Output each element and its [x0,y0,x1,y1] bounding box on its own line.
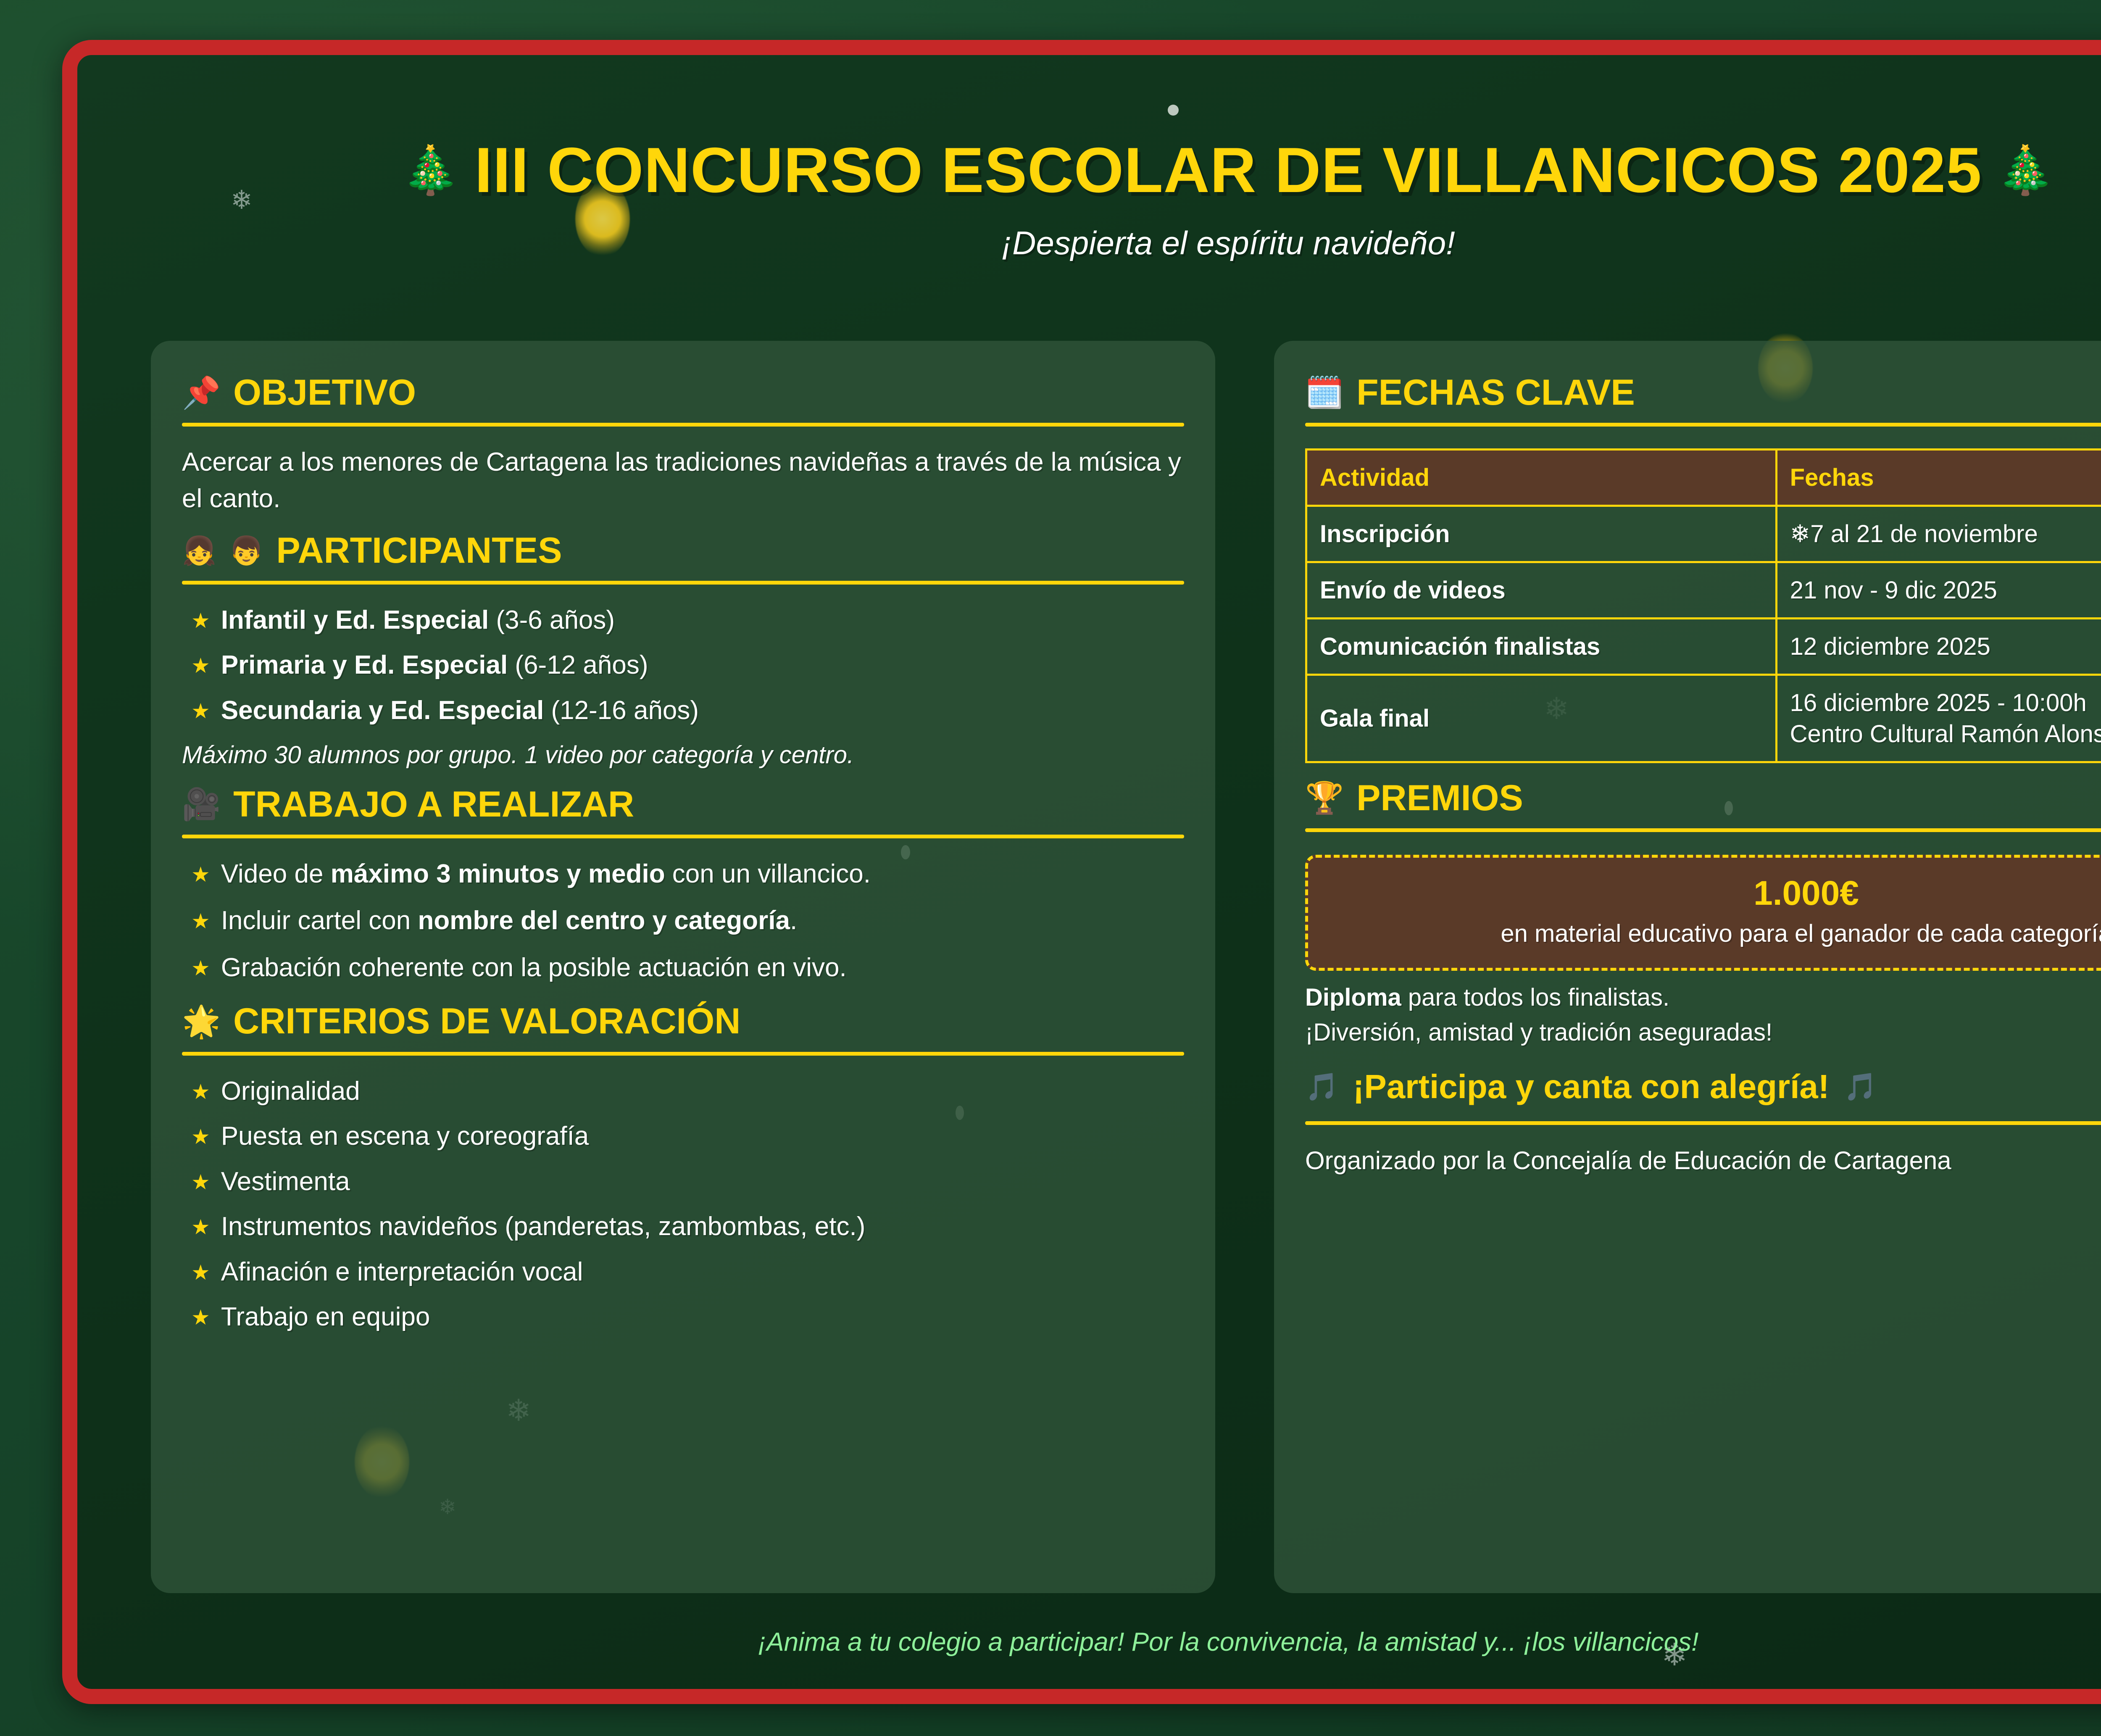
objetivo-text: Acercar a los menores de Cartagena las t… [182,444,1184,517]
star-bullet-icon: ★ [191,698,210,724]
criterio-label: Afinación e interpretación vocal [221,1256,583,1288]
column-header-fechas: Fechas [1776,450,2101,506]
list-item: ★Infantil y Ed. Especial (3-6 años) [182,604,1184,637]
column-header-actividad: Actividad [1306,450,1777,506]
star-bullet-icon: ★ [191,608,210,634]
section-divider [1305,423,2101,427]
trabajo-pre: Grabación coherente con la posible actua… [221,953,847,982]
cell-date: 16 diciembre 2025 - 10:00h Centro Cultur… [1776,675,2101,762]
cell-date: 21 nov - 9 dic 2025 [1776,562,2101,619]
list-item: ★Incluir cartel con nombre del centro y … [182,904,1184,937]
diploma-line: Diploma para todos los finalistas. [1305,982,2101,1013]
criterios-list: ★Originalidad ★Puesta en escena y coreog… [182,1075,1184,1333]
list-item: ★Puesta en escena y coreografía [182,1120,1184,1153]
table-row: Inscripción ❄7 al 21 de noviembre [1306,506,2101,562]
diploma-bold: Diploma [1305,984,1401,1011]
poster-footer: ¡Anima a tu colegio a participar! Por la… [77,1627,2101,1657]
star-bullet-icon: ★ [191,1169,210,1196]
section-header-fechas: 🗓️ FECHAS CLAVE [1305,374,2101,412]
section-header-participantes: 👧 👦 PARTICIPANTES [182,532,1184,570]
trabajo-pre: Video de [221,859,331,888]
section-header-premios: 🏆 PREMIOS [1305,779,2101,817]
trabajo-list: ★Video de máximo 3 minutos y medio con u… [182,858,1184,984]
cell-activity: Gala final [1306,675,1777,762]
criterio-label: Trabajo en equipo [221,1301,430,1333]
list-item: ★Afinación e interpretación vocal [182,1256,1184,1288]
section-divider [182,423,1184,427]
participant-age: (12-16 años) [544,696,699,725]
participant-age: (6-12 años) [508,651,648,680]
criterio-label: Originalidad [221,1075,360,1108]
page-title: 🎄III CONCURSO ESCOLAR DE VILLANCICOS 202… [77,138,2101,202]
movie-camera-icon: 🎥 [182,789,221,820]
star-bullet-icon: ★ [191,1304,210,1331]
star-bullet-icon: ★ [191,955,210,982]
cheer-line: 🎵 ¡Participa y canta con alegría! 🎵 [1305,1067,2101,1106]
trabajo-bold: nombre del centro y categoría [418,906,790,935]
organizer-text: Organizado por la Concejalía de Educació… [1305,1144,2101,1177]
prize-description: en material educativo para el ganador de… [1325,919,2101,948]
glowing-star-icon: 🌟 [182,1006,221,1037]
trabajo-bold: máximo 3 minutos y medio [331,859,665,888]
pushpin-icon: 📌 [182,377,221,408]
star-bullet-icon: ★ [191,1259,210,1286]
list-item: ★Instrumentos navideños (panderetas, zam… [182,1210,1184,1243]
cell-date: 12 diciembre 2025 [1776,619,2101,675]
diploma-rest: para todos los finalistas. [1401,984,1669,1011]
music-note-icon: 🎵 [1305,1071,1339,1103]
poster-subtitle: ¡Despierta el espíritu navideño! [77,224,2101,262]
participant-category: Primaria y Ed. Especial [221,651,508,680]
list-item: ★Originalidad [182,1075,1184,1108]
participant-category: Secundaria y Ed. Especial [221,696,544,725]
poster-frame: ❄ ❄ ❄ ❄ ❄ ❄ ❄ 🎄III CONCURSO ESCOLAR DE V… [62,40,2101,1704]
table-row: Envío de videos 21 nov - 9 dic 2025 [1306,562,2101,619]
section-title-trabajo: TRABAJO A REALIZAR [233,785,634,824]
christmas-tree-icon: 🎄 [1996,144,2055,196]
cell-activity: Comunicación finalistas [1306,619,1777,675]
section-title-premios: PREMIOS [1356,779,1523,817]
cheer-text: ¡Participa y canta con alegría! [1353,1067,1830,1106]
criterio-label: Instrumentos navideños (panderetas, zamb… [221,1210,866,1243]
participantes-note: Máximo 30 alumnos por grupo. 1 video por… [182,739,1184,771]
star-bullet-icon: ★ [191,1214,210,1241]
section-title-fechas: FECHAS CLAVE [1356,374,1635,412]
star-bullet-icon: ★ [191,653,210,679]
criterio-label: Vestimenta [221,1165,350,1198]
fun-line: ¡Diversión, amistad y tradición asegurad… [1305,1017,2101,1048]
section-header-trabajo: 🎥 TRABAJO A REALIZAR [182,785,1184,824]
section-header-criterios: 🌟 CRITERIOS DE VALORACIÓN [182,1002,1184,1041]
star-bullet-icon: ★ [191,1124,210,1150]
cell-activity: Inscripción [1306,506,1777,562]
cell-activity: Envío de videos [1306,562,1777,619]
list-item: ★Video de máximo 3 minutos y medio con u… [182,858,1184,890]
section-title-criterios: CRITERIOS DE VALORACIÓN [233,1002,740,1041]
star-bullet-icon: ★ [191,861,210,888]
section-header-objetivo: 📌 OBJETIVO [182,374,1184,412]
table-header-row: Actividad Fechas [1306,450,2101,506]
calendar-icon: 🗓️ [1305,377,1344,408]
poster-header: 🎄III CONCURSO ESCOLAR DE VILLANCICOS 202… [77,55,2101,262]
table-row: Gala final 16 diciembre 2025 - 10:00h Ce… [1306,675,2101,762]
left-panel: 📌 OBJETIVO Acercar a los menores de Cart… [151,341,1215,1593]
key-dates-table: Actividad Fechas Inscripción ❄7 al 21 de… [1305,448,2101,763]
list-item: ★Trabajo en equipo [182,1301,1184,1333]
list-item: ★Grabación coherente con la posible actu… [182,951,1184,984]
prize-amount: 1.000€ [1325,875,2101,912]
table-row: Comunicación finalistas 12 diciembre 202… [1306,619,2101,675]
section-title-participantes: PARTICIPANTES [276,532,562,570]
section-title-objetivo: OBJETIVO [233,374,416,412]
cell-date: ❄7 al 21 de noviembre [1776,506,2101,562]
section-divider [1305,828,2101,832]
christmas-tree-icon: 🎄 [401,144,460,196]
organizer-divider [1305,1121,2101,1125]
criterio-label: Puesta en escena y coreografía [221,1120,589,1153]
section-divider [182,581,1184,585]
poster-columns: 📌 OBJETIVO Acercar a los menores de Cart… [151,341,2101,1593]
right-panel: 🗓️ FECHAS CLAVE Actividad Fechas Inscrip… [1274,341,2101,1593]
list-item: ★Vestimenta [182,1165,1184,1198]
list-item: ★Primaria y Ed. Especial (6-12 años) [182,649,1184,682]
trabajo-pre: Incluir cartel con [221,906,418,935]
prize-box: 1.000€ en material educativo para el gan… [1305,855,2101,971]
participant-category: Infantil y Ed. Especial [221,606,489,635]
section-divider [182,1052,1184,1056]
star-bullet-icon: ★ [191,1079,210,1105]
participant-age: (3-6 años) [489,606,615,635]
star-bullet-icon: ★ [191,908,210,935]
music-note-icon: 🎵 [1843,1071,1877,1103]
section-divider [182,835,1184,838]
girl-icon: 👧 [182,537,216,564]
trabajo-post: . [790,906,797,935]
page-title-text: III CONCURSO ESCOLAR DE VILLANCICOS 2025 [474,134,1982,206]
list-item: ★Secundaria y Ed. Especial (12-16 años) [182,694,1184,727]
trophy-icon: 🏆 [1305,782,1344,814]
boy-icon: 👦 [229,537,263,564]
participantes-list: ★Infantil y Ed. Especial (3-6 años) ★Pri… [182,604,1184,727]
trabajo-post: con un villancico. [665,859,871,888]
